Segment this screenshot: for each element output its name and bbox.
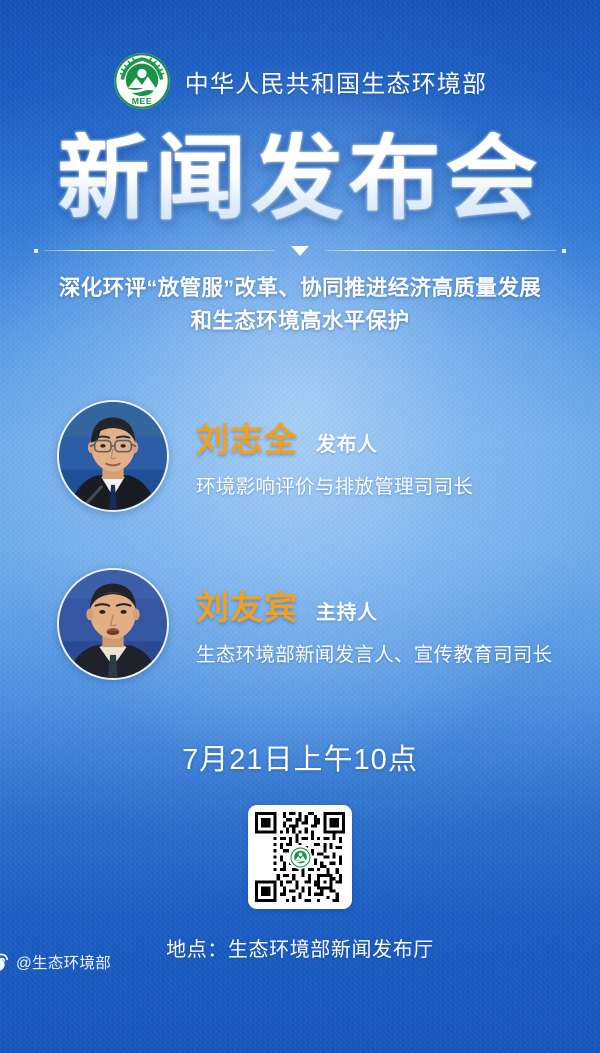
weibo-icon	[0, 953, 9, 972]
speaker-info: 刘友宾 主持人 生态环境部新闻发言人、宣传教育司司长	[196, 581, 552, 667]
mee-emblem-icon	[290, 847, 311, 868]
weibo-watermark: @生态环境部	[0, 951, 586, 973]
watermark-text: @生态环境部	[16, 951, 111, 973]
speaker-name-row: 刘志全 发布人	[196, 413, 473, 461]
poster-header: MEE 中华人民共和国生态环境部	[0, 0, 600, 110]
speaker-name-row: 刘友宾 主持人	[196, 581, 552, 629]
page-title: 新闻发布会	[57, 132, 542, 228]
speakers-list: 刘志全 发布人 环境影响评价与排放管理司司长	[0, 400, 600, 680]
speaker-entry: 刘友宾 主持人 生态环境部新闻发言人、宣传教育司司长	[0, 568, 600, 680]
svg-text:MEE: MEE	[132, 96, 153, 106]
divider-dot-left	[34, 249, 38, 253]
qr-code-icon[interactable]	[248, 805, 352, 909]
speaker-role: 主持人	[316, 596, 378, 625]
triangle-down-icon	[291, 246, 309, 256]
decorative-divider	[0, 246, 600, 256]
mee-emblem-icon: MEE	[113, 52, 171, 110]
divider-line-right	[325, 250, 556, 251]
poster-subtitle: 深化环评“放管服”改革、协同推进经济高质量发展 和生态环境高水平保护	[0, 272, 600, 339]
qr-code-wrap	[0, 805, 600, 909]
qr-center-logo	[288, 845, 312, 869]
divider-line-left	[44, 250, 275, 251]
speaker-position: 生态环境部新闻发言人、宣传教育司司长	[196, 638, 552, 667]
subtitle-line-1: 深化环评“放管服”改革、协同推进经济高质量发展	[22, 272, 578, 305]
speaker-name: 刘友宾	[196, 581, 298, 629]
divider-dot-right	[562, 249, 566, 253]
event-datetime: 7月21日上午10点	[0, 736, 600, 778]
speaker-portrait-liuyoubin	[57, 568, 169, 680]
speaker-portrait-liuzhiquan	[57, 400, 169, 512]
speaker-entry: 刘志全 发布人 环境影响评价与排放管理司司长	[0, 400, 600, 512]
speaker-info: 刘志全 发布人 环境影响评价与排放管理司司长	[196, 413, 473, 499]
speaker-name: 刘志全	[196, 413, 298, 461]
ministry-name: 中华人民共和国生态环境部	[185, 64, 487, 99]
main-title-wrap: 新闻发布会	[0, 132, 600, 228]
press-conference-poster: MEE 中华人民共和国生态环境部 新闻发布会 深化环评“放管服”改革、协同推进经…	[0, 0, 600, 1053]
speaker-role: 发布人	[316, 428, 378, 457]
subtitle-line-2: 和生态环境高水平保护	[22, 305, 578, 338]
speaker-position: 环境影响评价与排放管理司司长	[196, 470, 473, 499]
